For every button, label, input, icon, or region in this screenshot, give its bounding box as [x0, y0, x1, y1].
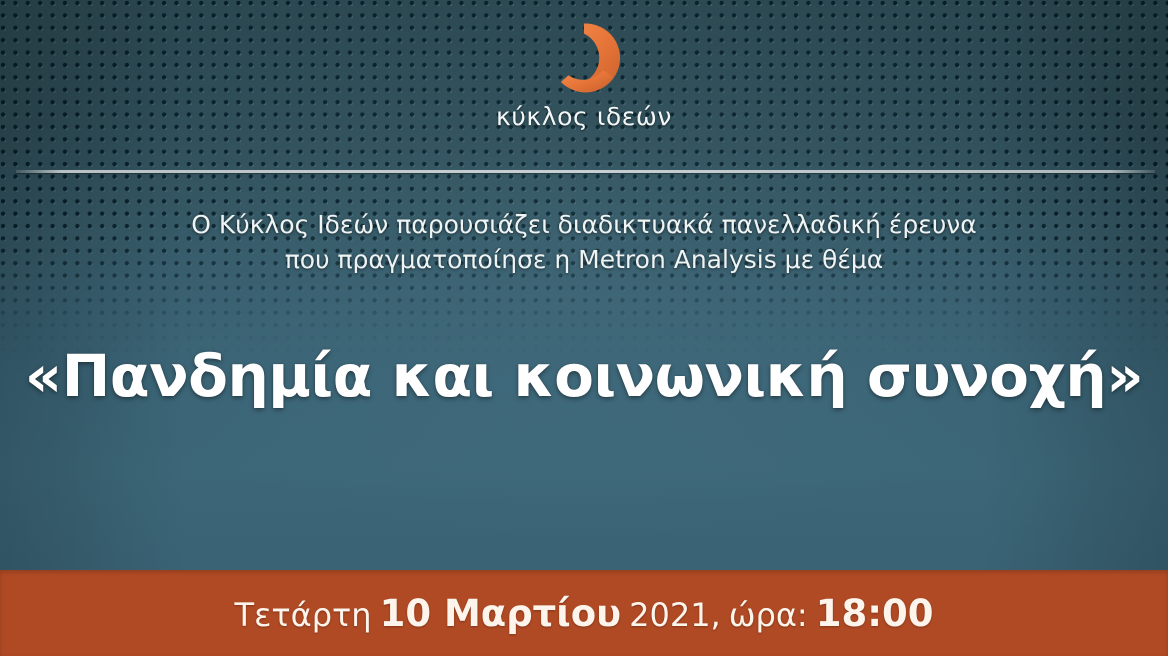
- brand-logo-block: κύκλος ιδεών: [0, 16, 1168, 131]
- intro-line-1: Ο Κύκλος Ιδεών παρουσιάζει διαδικτυακά π…: [0, 207, 1168, 242]
- page-title: «Πανδημία και κοινωνική συνοχή»: [0, 342, 1168, 410]
- event-time: 18:00: [816, 592, 934, 635]
- event-poster: κύκλος ιδεών Ο Κύκλος Ιδεών παρουσιάζει …: [0, 0, 1168, 656]
- event-weekday: Τετάρτη: [235, 596, 372, 634]
- intro-line-2: που πραγματοποίησε η Metron Analysis με …: [0, 242, 1168, 277]
- event-date: 10 Μαρτίου: [380, 592, 622, 635]
- event-date-line: Τετάρτη10 Μαρτίου2021,ώρα:18:00: [235, 592, 934, 635]
- spiral-circle-logo-icon: [542, 16, 626, 100]
- intro-text: Ο Κύκλος Ιδεών παρουσιάζει διαδικτυακά π…: [0, 207, 1168, 277]
- brand-wordmark: κύκλος ιδεών: [0, 102, 1168, 131]
- horizontal-divider: [16, 170, 1155, 173]
- event-year: 2021,: [629, 596, 721, 634]
- event-time-label: ώρα:: [729, 596, 808, 634]
- event-date-bar: Τετάρτη10 Μαρτίου2021,ώρα:18:00: [0, 570, 1168, 656]
